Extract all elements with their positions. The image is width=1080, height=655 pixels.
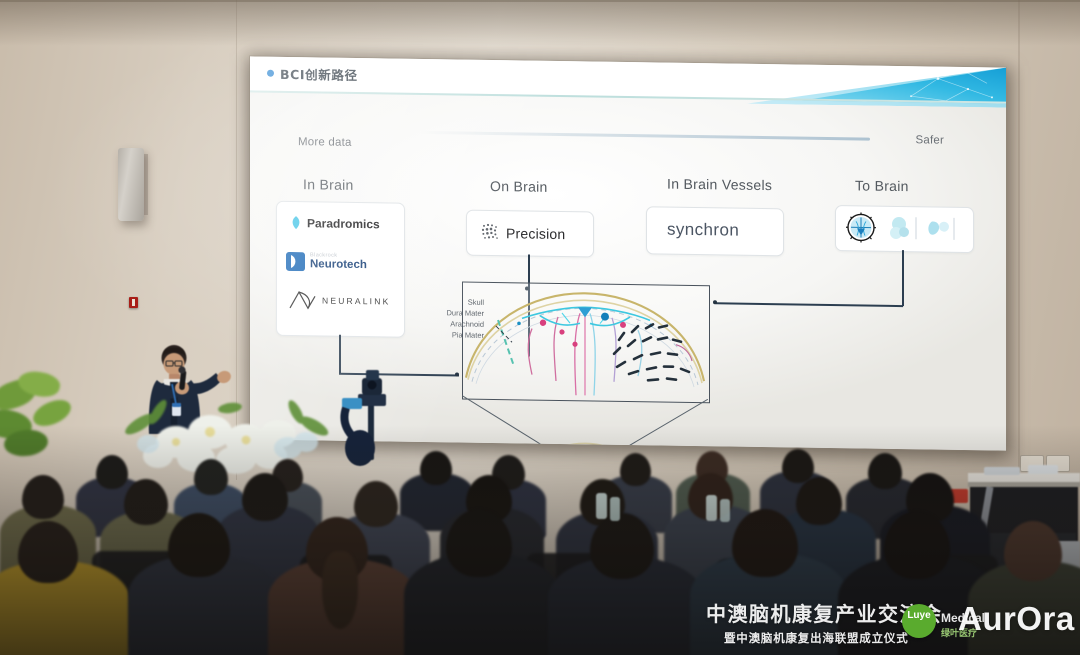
logo-blackrock-neurotech: Blackrock Neurotech	[286, 252, 367, 272]
logo-label: Precision	[506, 225, 565, 242]
ceiling-shadow	[0, 0, 1080, 46]
axis-label-safer: Safer	[916, 134, 945, 146]
column-heading-in-brain: In Brain	[303, 176, 354, 193]
axis-label-more-data: More data	[298, 136, 352, 149]
blackrock-icon	[286, 252, 305, 271]
logo-label: Paradromics	[307, 216, 380, 231]
luye-mark: Luye	[902, 611, 936, 621]
logo-faded-1	[890, 217, 909, 239]
column-heading-to-brain: To Brain	[855, 177, 909, 194]
aurora-brand: AurOra	[958, 600, 1075, 638]
logo-faded-2	[928, 221, 949, 235]
title-bullet-icon	[267, 70, 274, 77]
wall-mounted-speaker	[118, 148, 144, 221]
brain-target-icon	[846, 212, 876, 242]
logo-to-brain-group	[844, 211, 964, 251]
connector-endpoint	[713, 300, 717, 304]
column-heading-in-brain-vessels: In Brain Vessels	[667, 176, 772, 194]
logo-precision: Precision	[480, 222, 565, 244]
connector-to-brain-vertical	[902, 250, 904, 306]
wall-seam-top	[0, 0, 1080, 2]
logo-label: NEURALINK	[322, 295, 390, 306]
luye-logo: Luye	[902, 604, 938, 640]
conference-photo: BCI创新路径 More data Safer In Brain On Brai…	[0, 0, 1080, 655]
logo-label: Neurotech	[310, 259, 367, 271]
neuralink-icon	[288, 289, 318, 311]
precision-icon	[480, 222, 501, 243]
fire-alarm-icon	[129, 297, 138, 308]
logo-paradromics: Paradromics	[290, 215, 380, 231]
logo-synchron: synchron	[667, 220, 739, 241]
paradromics-icon	[290, 215, 302, 230]
column-heading-on-brain: On Brain	[490, 178, 548, 195]
slide-title: BCI创新路径	[280, 64, 358, 84]
logo-neuralink: NEURALINK	[288, 289, 390, 313]
